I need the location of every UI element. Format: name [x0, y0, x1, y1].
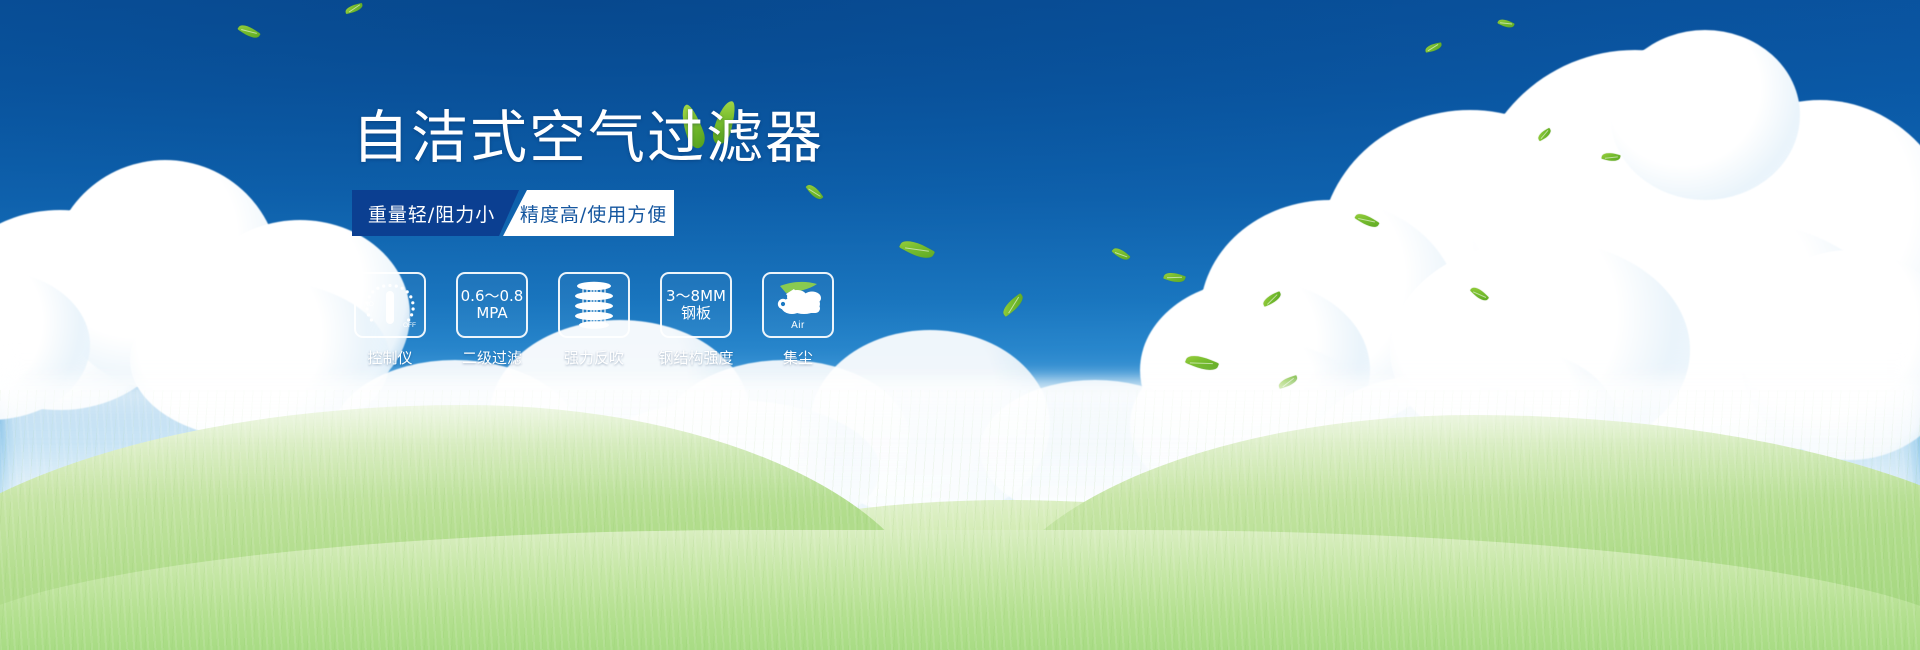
gauge-label-no: NO	[364, 301, 374, 308]
pressure-icon-line2: MPA	[476, 305, 507, 322]
steel-icon-line2: 钢板	[681, 305, 711, 322]
dust-air-label: Air	[770, 320, 826, 331]
feature-label: 控制仪	[367, 347, 412, 368]
filter-stack-icon	[571, 280, 617, 330]
filter-stack-icon-svg	[571, 280, 617, 330]
feature-box: 0.6～0.8 MPA	[456, 272, 528, 338]
feature-label: 集尘	[783, 347, 813, 368]
feature-label: 钢结构强度	[658, 347, 733, 368]
hero-banner: 自洁式空气过滤器 重量轻/阻力小 精度高/使用方便	[0, 0, 1920, 650]
feature-item-dust[interactable]: Air 集尘	[760, 272, 836, 368]
tag-primary[interactable]: 重量轻/阻力小	[352, 190, 519, 236]
feature-box	[558, 272, 630, 338]
page-title: 自洁式空气过滤器	[352, 104, 1072, 172]
dust-cloud-icon-svg	[770, 280, 826, 322]
feature-list: NO OFF 控制仪 0.6～0.8 MPA 二级过滤	[352, 272, 1072, 368]
feature-item-reverse-blow[interactable]: 强力反吹	[556, 272, 632, 368]
feature-box: 3～8MM 钢板	[660, 272, 732, 338]
banner-content: 自洁式空气过滤器 重量轻/阻力小 精度高/使用方便	[352, 104, 1072, 368]
gauge-icon-svg: NO OFF	[361, 279, 419, 331]
gauge-icon: NO OFF	[361, 279, 419, 331]
pressure-icon-line1: 0.6～0.8	[461, 288, 524, 305]
feature-item-controller[interactable]: NO OFF 控制仪	[352, 272, 428, 368]
feature-label: 二级过滤	[462, 347, 522, 368]
feature-label: 强力反吹	[564, 347, 624, 368]
gauge-label-off: OFF	[403, 322, 416, 329]
feature-item-pressure[interactable]: 0.6～0.8 MPA 二级过滤	[454, 272, 530, 368]
tag-secondary[interactable]: 精度高/使用方便	[503, 190, 674, 236]
feature-box: Air	[762, 272, 834, 338]
steel-icon-line1: 3～8MM	[666, 288, 726, 305]
tag-group: 重量轻/阻力小 精度高/使用方便	[352, 190, 674, 236]
feature-item-steel[interactable]: 3～8MM 钢板 钢结构强度	[658, 272, 734, 368]
feature-box: NO OFF	[354, 272, 426, 338]
dust-cloud-icon: Air	[770, 280, 826, 330]
grass-ground	[0, 390, 1920, 650]
grass-horizon-glow	[0, 380, 1920, 500]
